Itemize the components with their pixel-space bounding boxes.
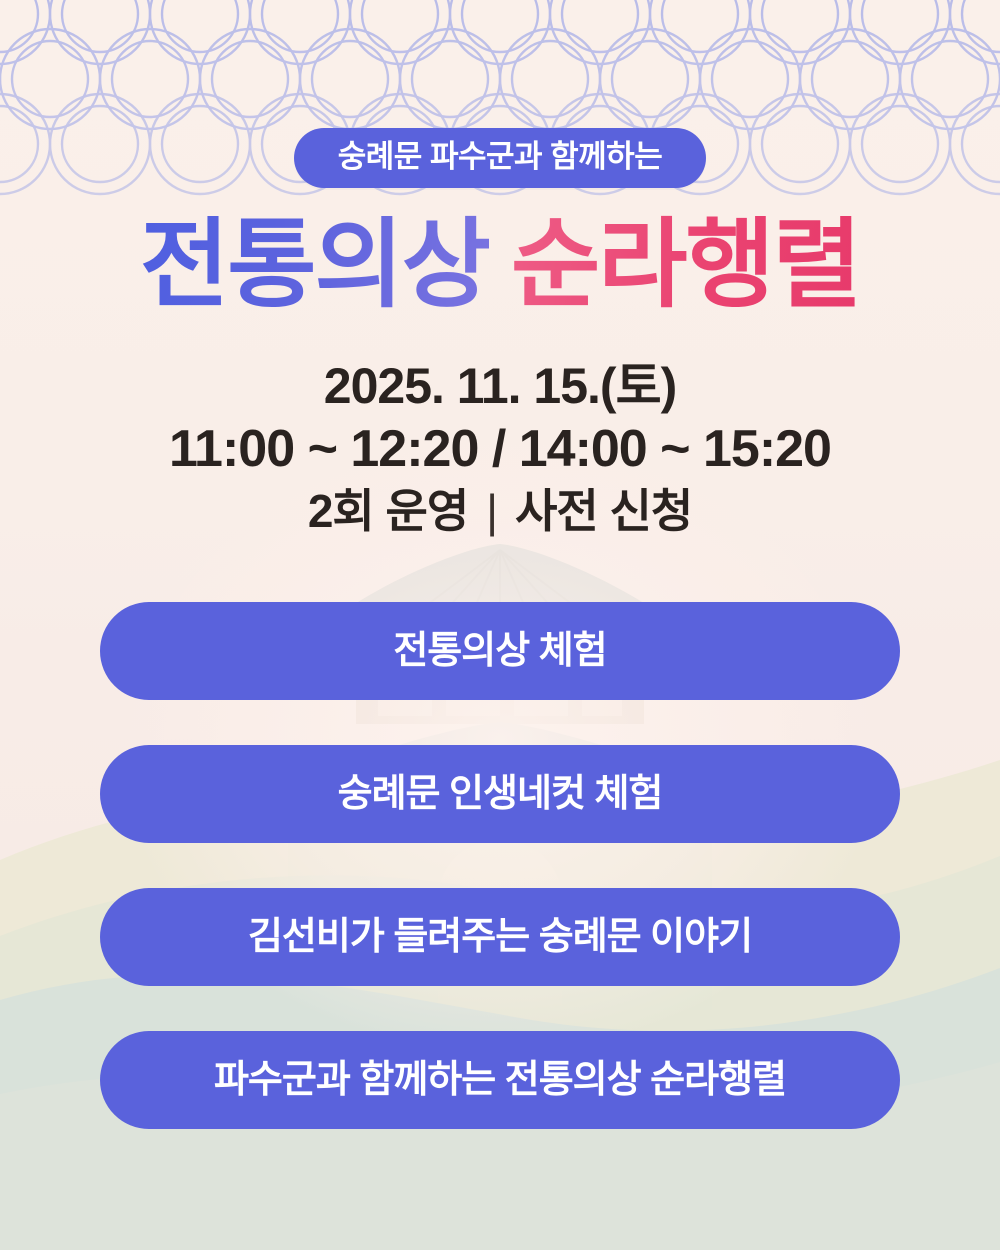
title-part-patrol-parade: 순라행렬 <box>511 210 860 319</box>
session-count: 2회 운영 <box>308 485 468 537</box>
info-separator: | <box>468 481 515 542</box>
program-item-photo-booth[interactable]: 숭례문 인생네컷 체험 <box>100 745 900 843</box>
program-label: 숭례문 인생네컷 체험 <box>338 775 663 813</box>
program-item-costume-experience[interactable]: 전통의상 체험 <box>100 602 900 700</box>
program-label: 김선비가 들려주는 숭례문 이야기 <box>248 918 752 956</box>
program-label: 전통의상 체험 <box>393 632 606 670</box>
event-info: 2025. 11. 15.(토) 11:00 ~ 12:20 / 14:00 ~… <box>0 355 1000 542</box>
event-date: 2025. 11. 15.(토) <box>0 355 1000 417</box>
booking-type: 사전 신청 <box>515 485 692 537</box>
event-times: 11:00 ~ 12:20 / 14:00 ~ 15:20 <box>0 417 1000 481</box>
event-sessions-booking: 2회 운영|사전 신청 <box>0 481 1000 542</box>
program-item-patrol-parade[interactable]: 파수군과 함께하는 전통의상 순라행렬 <box>100 1031 900 1129</box>
event-poster: 숭례문 파수군과 함께하는 전통의상순라행렬 2025. 11. 15.(토) … <box>0 0 1000 1250</box>
page-title: 전통의상순라행렬 <box>0 213 1000 318</box>
badge-row: 숭례문 파수군과 함께하는 <box>0 128 1000 188</box>
program-label: 파수군과 함께하는 전통의상 순라행렬 <box>214 1061 786 1099</box>
title-part-traditional-costume: 전통의상 <box>140 210 489 319</box>
subtitle-badge: 숭례문 파수군과 함께하는 <box>294 128 706 188</box>
program-list: 전통의상 체험 숭례문 인생네컷 체험 김선비가 들려주는 숭례문 이야기 파수… <box>0 602 1000 1129</box>
program-item-storytelling[interactable]: 김선비가 들려주는 숭례문 이야기 <box>100 888 900 986</box>
